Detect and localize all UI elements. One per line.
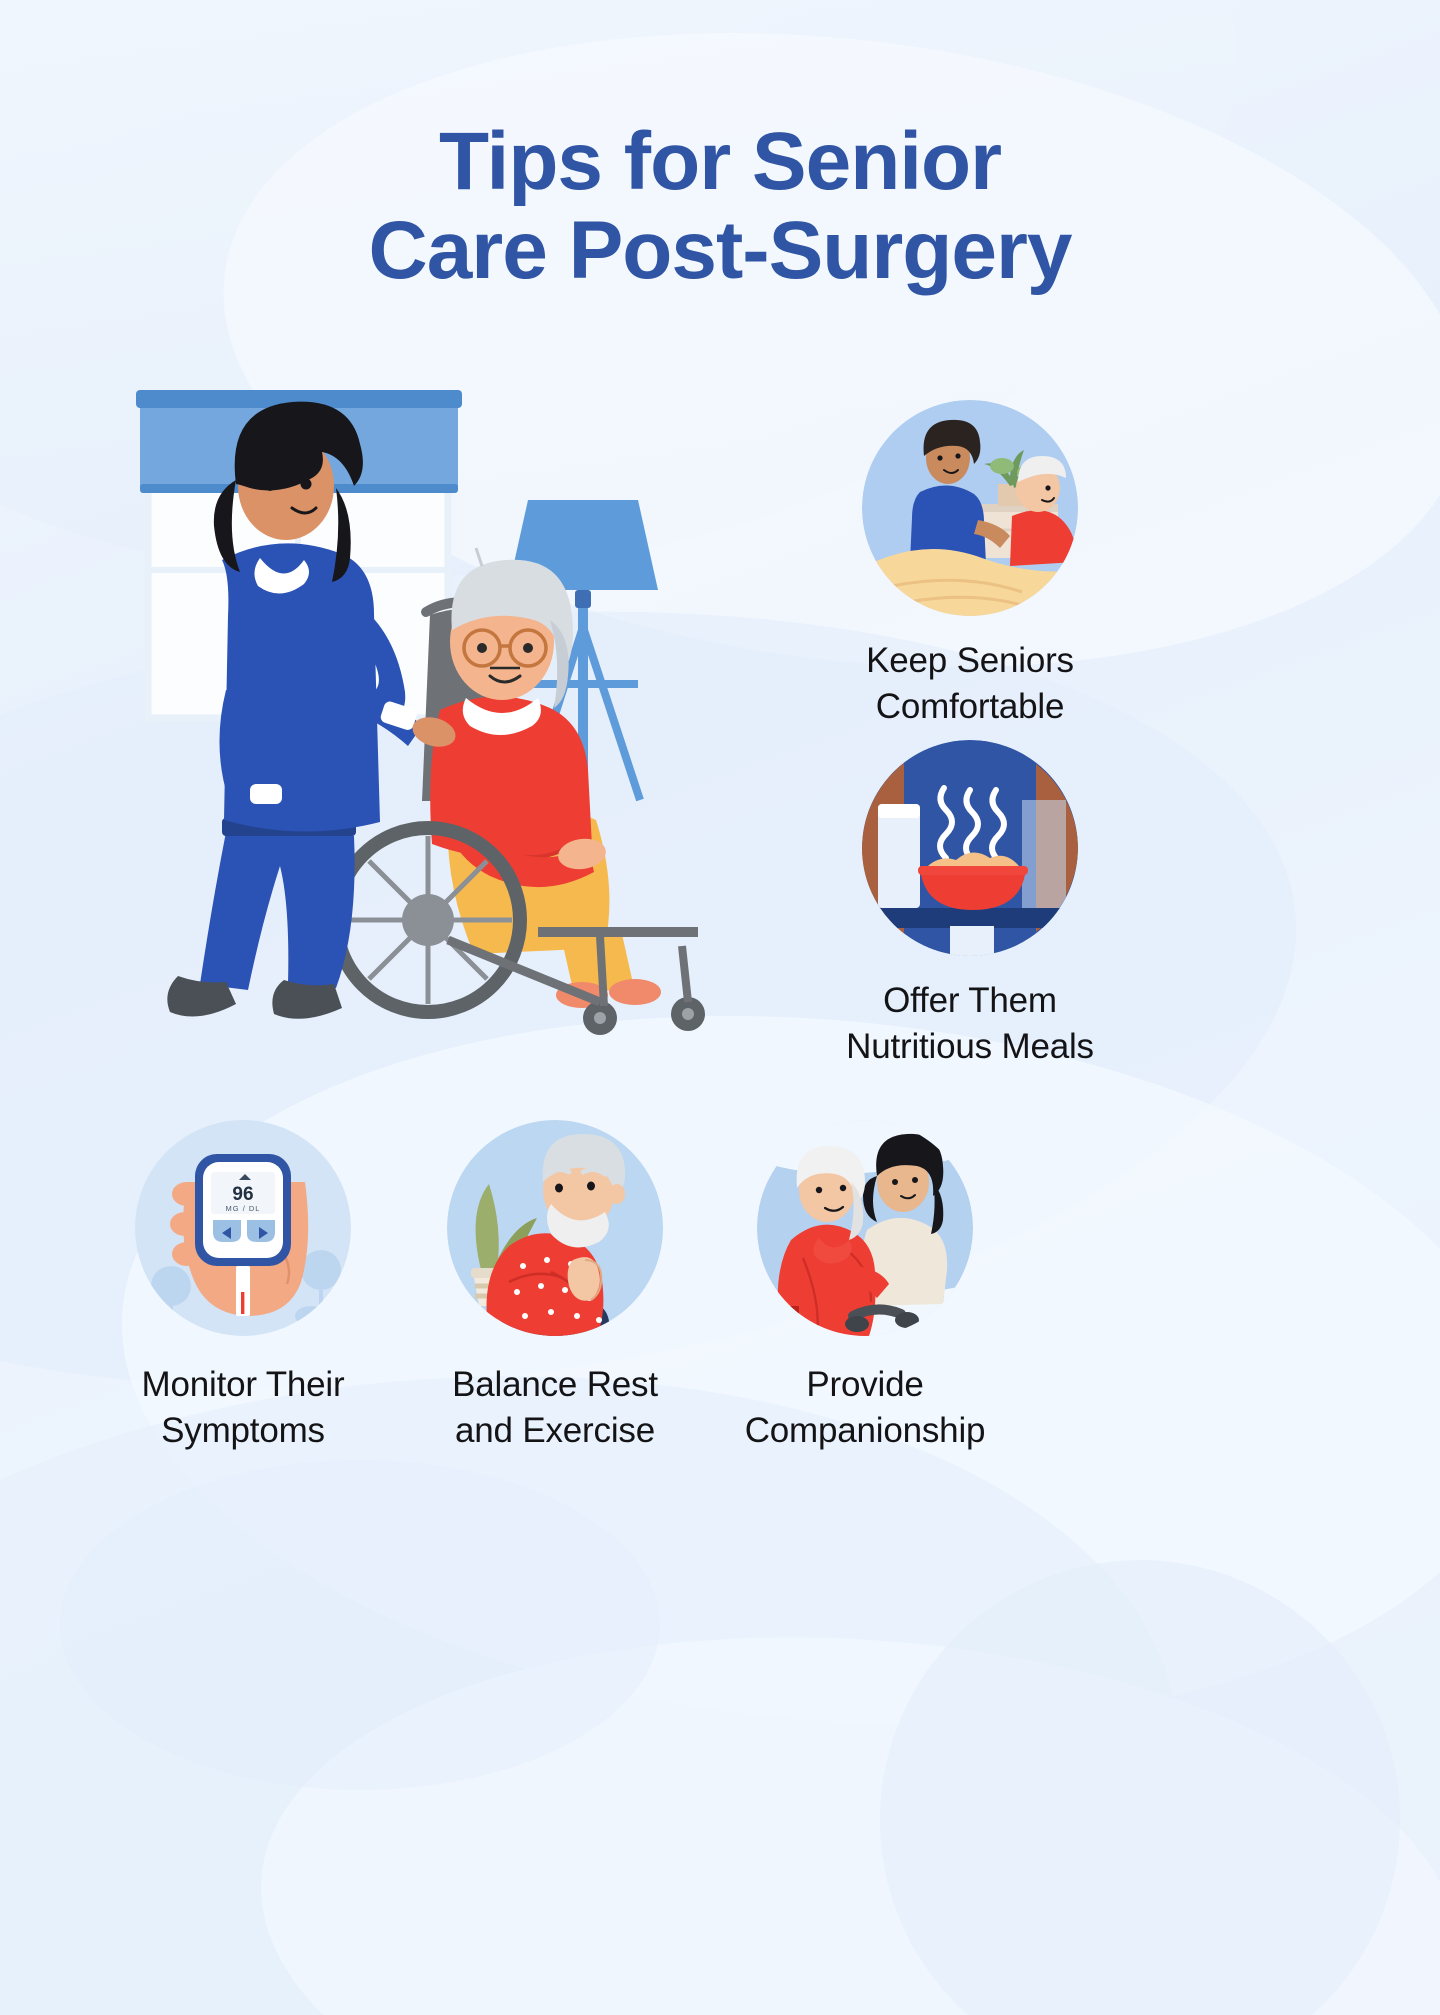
hot-soup-bowl-icon (862, 740, 1078, 956)
tip-caption-line-1: Keep Seniors (690, 638, 1250, 684)
tip-caption: Monitor Their Symptoms (78, 1362, 408, 1453)
glucose-meter-in-hand-icon: 96 MG / DL (135, 1120, 351, 1336)
tip-caption-line-2: Nutritious Meals (690, 1024, 1250, 1070)
tip-balance-rest-and-exercise: Balance Rest and Exercise (390, 1120, 720, 1453)
tip-caption: Provide Companionship (700, 1362, 1030, 1453)
tip-caption-line-1: Balance Rest (390, 1362, 720, 1408)
hero-illustration (130, 380, 750, 1060)
page-title-line-2: Care Post-Surgery (0, 207, 1440, 296)
tip-caption-line-1: Offer Them (690, 978, 1250, 1024)
tip-caption-line-1: Monitor Their (78, 1362, 408, 1408)
tip-caption: Balance Rest and Exercise (390, 1362, 720, 1453)
tip-caption-line-2: Comfortable (690, 684, 1250, 730)
tip-provide-companionship: Provide Companionship (700, 1120, 1030, 1453)
tip-caption-line-2: and Exercise (390, 1408, 720, 1454)
tip-caption-line-2: Companionship (700, 1408, 1030, 1454)
page-title: Tips for Senior Care Post-Surgery (0, 118, 1440, 295)
background-swoosh (60, 1460, 660, 1790)
tip-caption-line-2: Symptoms (78, 1408, 408, 1454)
tip-keep-seniors-comfortable: Keep Seniors Comfortable (690, 400, 1250, 729)
page-title-line-1: Tips for Senior (0, 118, 1440, 207)
senior-with-companion-icon (757, 1120, 973, 1336)
nurse-pushing-senior-in-wheelchair-illustration (130, 380, 750, 1060)
caregiver-with-bedridden-senior-icon (862, 400, 1078, 616)
tip-monitor-symptoms: 96 MG / DL Monitor Their Symptoms (78, 1120, 408, 1453)
glucose-reading-unit: MG / DL (226, 1204, 261, 1213)
tip-offer-nutritious-meals: Offer Them Nutritious Meals (690, 740, 1250, 1069)
glucose-reading-value: 96 (232, 1184, 253, 1205)
senior-meditating-icon (447, 1120, 663, 1336)
tip-caption-line-1: Provide (700, 1362, 1030, 1408)
tip-caption: Keep Seniors Comfortable (690, 638, 1250, 729)
tip-caption: Offer Them Nutritious Meals (690, 978, 1250, 1069)
